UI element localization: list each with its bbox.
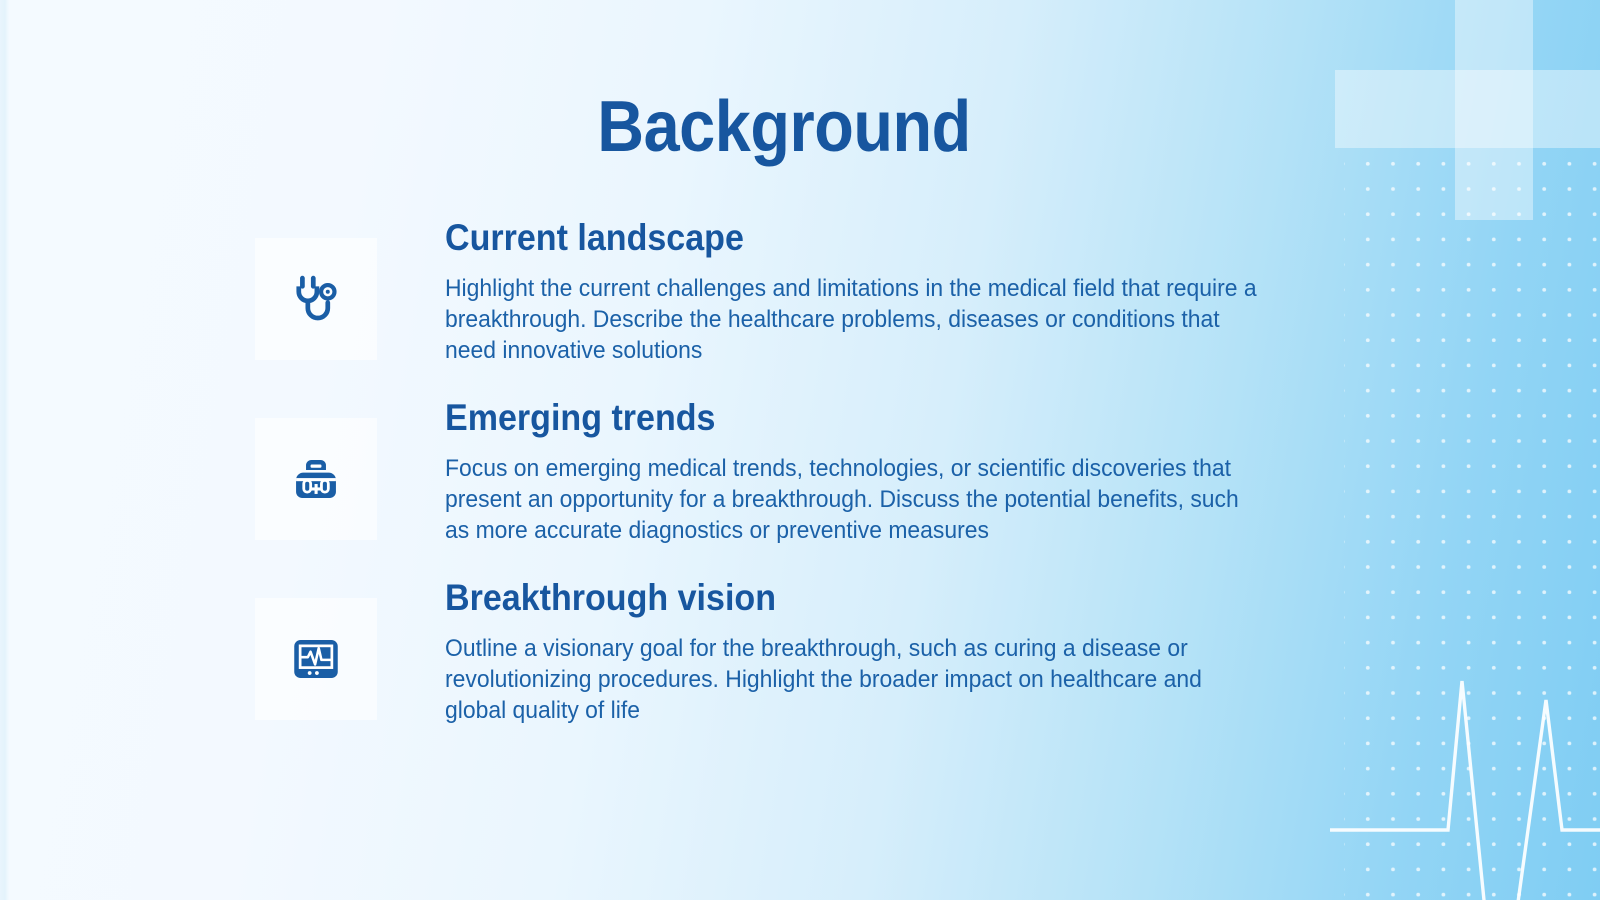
sections-list: Current landscape Highlight the current … [255,214,1315,726]
section-text: Focus on emerging medical trends, techno… [445,453,1266,546]
page-title: Background [78,88,1489,166]
section-emerging-trends: Emerging trends Focus on emerging medica… [255,394,1315,546]
icon-tile [255,238,377,360]
section-breakthrough-vision: Breakthrough vision Outline a visionary … [255,574,1315,726]
section-body: Emerging trends Focus on emerging medica… [377,394,1315,546]
section-current-landscape: Current landscape Highlight the current … [255,214,1315,366]
section-text: Highlight the current challenges and lim… [445,273,1266,366]
ecg-monitor-icon [287,630,345,688]
icon-tile [255,598,377,720]
heartbeat-line [1330,681,1600,900]
section-body: Breakthrough vision Outline a visionary … [377,574,1315,726]
section-body: Current landscape Highlight the current … [377,214,1315,366]
left-edge-stripe [0,0,9,900]
medical-kit-icon [287,450,345,508]
icon-tile [255,418,377,540]
stethoscope-icon [287,270,345,328]
section-heading: Current landscape [445,216,1245,260]
slide-canvas: Background [0,0,1600,900]
section-text: Outline a visionary goal for the breakth… [445,633,1266,726]
dot-grid-pattern [1344,148,1600,900]
section-heading: Breakthrough vision [445,576,1245,620]
section-heading: Emerging trends [445,396,1245,440]
